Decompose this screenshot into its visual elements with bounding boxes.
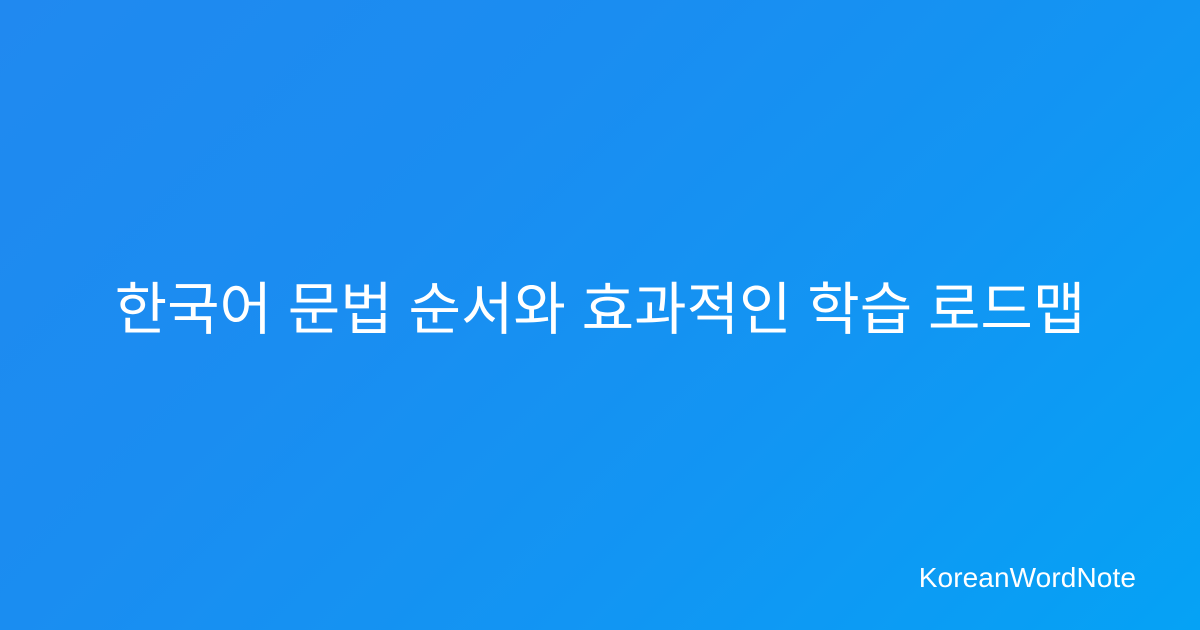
share-card: 한국어 문법 순서와 효과적인 학습 로드맵 KoreanWordNote [0,0,1200,630]
brand-name-label: KoreanWordNote [919,564,1136,592]
brand-mark: KoreanWordNote [919,564,1136,592]
title-block: 한국어 문법 순서와 효과적인 학습 로드맵 [88,276,1112,346]
page-title: 한국어 문법 순서와 효과적인 학습 로드맵 [115,276,1086,346]
